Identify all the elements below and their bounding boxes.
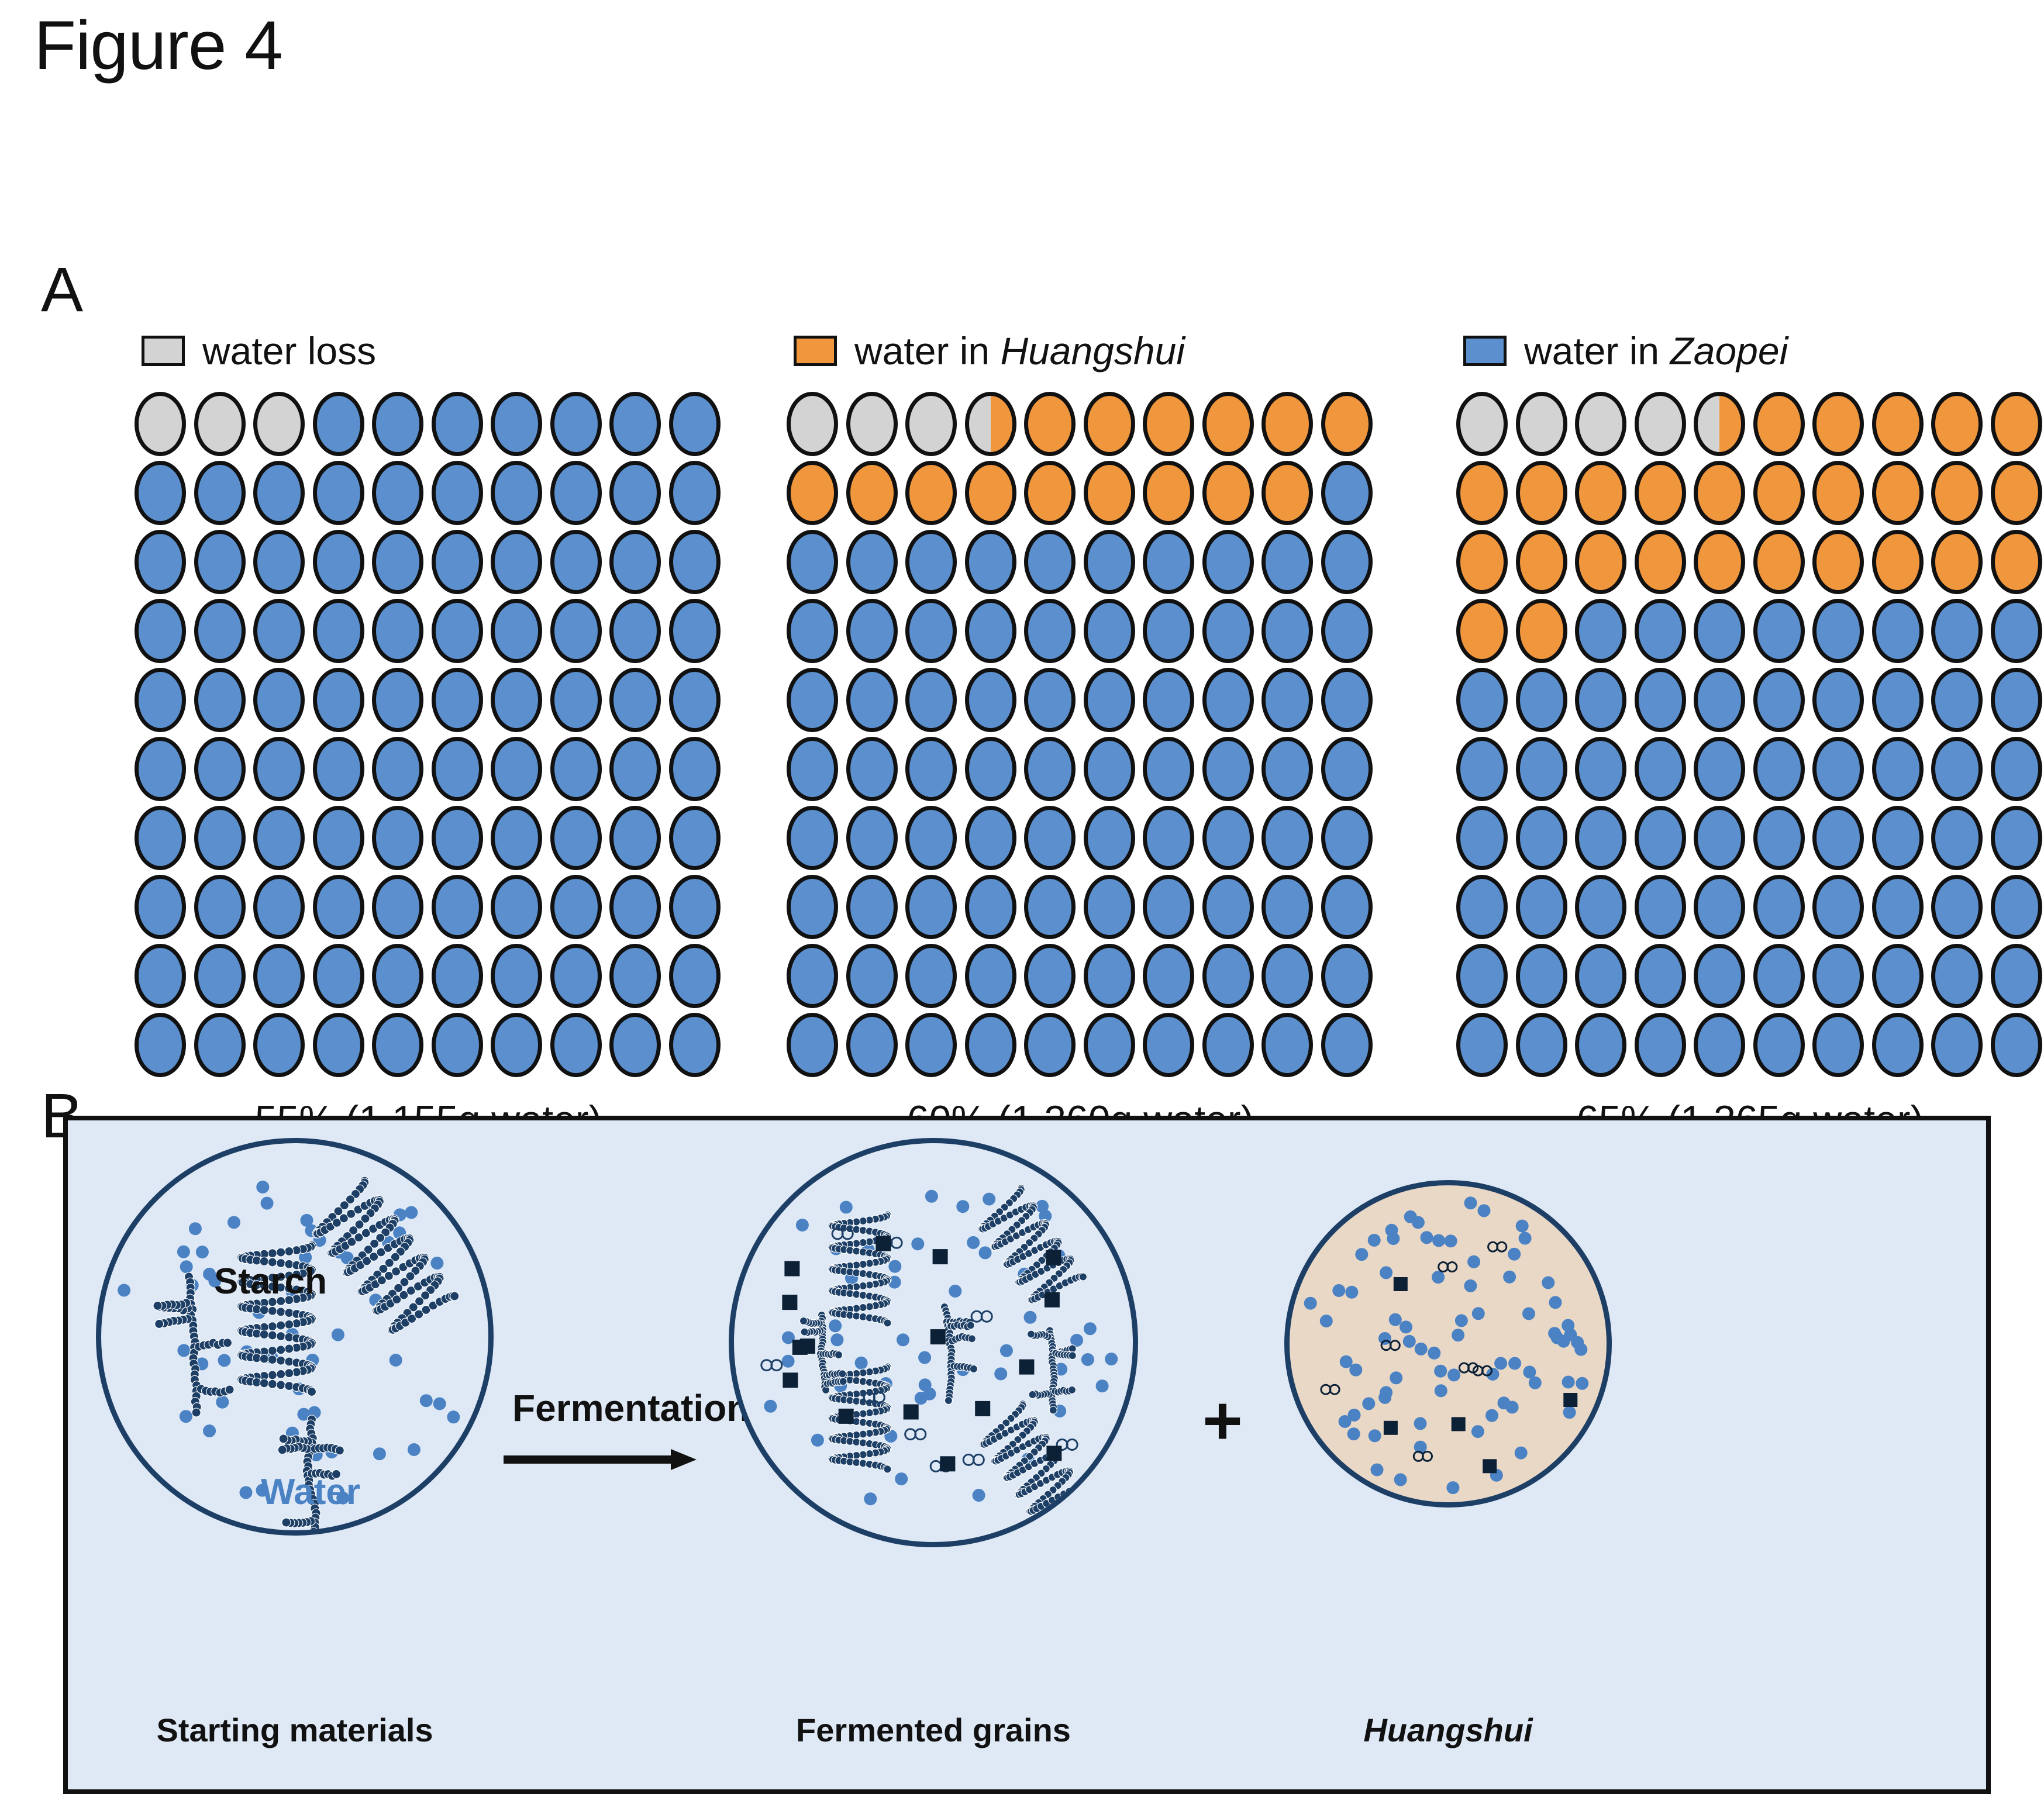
- waffle-dot: [135, 392, 186, 456]
- waffle-dot: [1143, 875, 1194, 939]
- waffle-dot: [905, 737, 957, 801]
- waffle-dot: [1202, 668, 1254, 732]
- waffle-dot: [669, 461, 721, 525]
- waffle-dot: [1143, 461, 1194, 525]
- waffle-dot: [313, 461, 364, 525]
- panel-b: Starch Water Fermentation + Starting mat…: [63, 1116, 1991, 1794]
- waffle-dot: [1635, 599, 1686, 663]
- waffle-dot: [787, 668, 838, 732]
- waffle-dot: [1812, 737, 1864, 801]
- waffle-dot: [253, 392, 305, 456]
- waffle-dot: [846, 668, 898, 732]
- waffle-dot: [1753, 530, 1805, 594]
- waffle-dot: [1575, 806, 1626, 870]
- waffle-dot: [253, 461, 305, 525]
- waffle-dot: [1143, 737, 1194, 801]
- waffle-dot: [669, 875, 721, 939]
- waffle-dot: [905, 599, 957, 663]
- waffle-dot: [491, 737, 542, 801]
- waffle-dot: [491, 806, 542, 870]
- waffle-dot: [846, 461, 898, 525]
- waffle-dot: [432, 875, 483, 939]
- waffle-dot: [1516, 461, 1567, 525]
- waffle-dot: [253, 530, 305, 594]
- waffle-dot: [1516, 530, 1567, 594]
- waffle-dot: [1516, 668, 1567, 732]
- waffle-dot: [787, 806, 838, 870]
- panel-a-label: A: [41, 253, 83, 326]
- waffle-dot: [905, 461, 957, 525]
- waffle-dot: [432, 806, 483, 870]
- waffle-dot: [609, 461, 661, 525]
- waffle-dot: [253, 944, 305, 1008]
- waffle-dot: [846, 806, 898, 870]
- waffle-dot: [1812, 392, 1864, 456]
- waffle-dot: [1635, 875, 1686, 939]
- waffle-dot: [491, 668, 542, 732]
- waffle-dot: [432, 668, 483, 732]
- waffle-dot: [1694, 668, 1745, 732]
- waffle-dot: [609, 392, 661, 456]
- waffle-dot: [432, 737, 483, 801]
- waffle-dot: [1694, 599, 1745, 663]
- waffle-dot: [135, 1013, 186, 1077]
- waffle-dot: [1991, 875, 2042, 939]
- waffle-dot: [313, 737, 364, 801]
- waffle-dot: [1812, 530, 1864, 594]
- waffle-dot: [609, 944, 661, 1008]
- waffle-dot: [253, 599, 305, 663]
- waffle-dot: [609, 1013, 661, 1077]
- waffle-dot: [1516, 599, 1567, 663]
- waffle-dot: [609, 530, 661, 594]
- waffle-dot: [1694, 1013, 1745, 1077]
- caption-huangshui: Huangshui: [1284, 1711, 1612, 1749]
- waffle-dot: [1084, 875, 1135, 939]
- waffle-dot: [1202, 461, 1254, 525]
- waffle-dot-split: [1694, 392, 1745, 456]
- waffle-dot: [1991, 392, 2042, 456]
- waffle-dot: [253, 737, 305, 801]
- waffle-dot: [787, 737, 838, 801]
- waffle-dot: [253, 1013, 305, 1077]
- waffle-dot: [1143, 806, 1194, 870]
- waffle-dot: [491, 530, 542, 594]
- waffle-dot: [1753, 944, 1805, 1008]
- waffle-dot: [135, 530, 186, 594]
- waffle-dot: [787, 1013, 838, 1077]
- waffle-dot: [965, 668, 1016, 732]
- waffle-dot: [965, 806, 1016, 870]
- waffle-dot: [432, 944, 483, 1008]
- waffle-dot: [1321, 1013, 1373, 1077]
- waffle-dot: [491, 461, 542, 525]
- waffle-dot: [550, 599, 602, 663]
- waffle-dot: [1084, 530, 1135, 594]
- waffle-dot: [1456, 1013, 1508, 1077]
- waffle-dot: [1991, 599, 2042, 663]
- waffle-dot: [1635, 392, 1686, 456]
- waffle-dot: [1084, 461, 1135, 525]
- waffle-dot: [1872, 392, 1924, 456]
- waffle-dot: [1931, 737, 1983, 801]
- waffle-dot: [965, 461, 1016, 525]
- waffle-dot: [1991, 737, 2042, 801]
- waffle-dot: [135, 875, 186, 939]
- waffle-dot: [1575, 599, 1626, 663]
- waffle-dot: [1931, 1013, 1983, 1077]
- waffle-dot: [253, 875, 305, 939]
- waffle-dot: [1872, 875, 1924, 939]
- waffle-dot: [1084, 737, 1135, 801]
- waffle-dot: [194, 668, 246, 732]
- waffle-dot: [1575, 944, 1626, 1008]
- waffle-dot: [1024, 530, 1076, 594]
- waffle-dot: [372, 1013, 423, 1077]
- waffle-dot: [313, 944, 364, 1008]
- waffle-dot: [372, 461, 423, 525]
- waffle-dot: [491, 599, 542, 663]
- waffle-dot: [905, 875, 957, 939]
- waffle-dot: [1261, 668, 1313, 732]
- waffle-dot: [432, 1013, 483, 1077]
- waffle-dot: [1084, 944, 1135, 1008]
- waffle-dot: [1872, 806, 1924, 870]
- panel-a: water loss55% (1,155g water)water in Hua…: [0, 327, 2044, 1070]
- waffle-dot: [905, 530, 957, 594]
- waffle-dot: [1024, 668, 1076, 732]
- waffle-chart-2: water in Huangshui60% (1,260g water): [787, 327, 1374, 1143]
- waffle-dot: [1456, 392, 1508, 456]
- waffle-dot: [905, 392, 957, 456]
- waffle-dot: [1575, 392, 1626, 456]
- waffle-dot: [372, 599, 423, 663]
- legend-item-water_loss: water loss: [142, 327, 722, 374]
- waffle-dot: [609, 737, 661, 801]
- waffle-dot: [1991, 1013, 2042, 1077]
- waffle-dot: [787, 530, 838, 594]
- waffle-chart-3: water in Zaopei65% (1,365g water): [1456, 327, 2044, 1143]
- waffle-dot: [669, 599, 721, 663]
- waffle-dot: [846, 737, 898, 801]
- waffle-dot: [1635, 944, 1686, 1008]
- waffle-dot: [1024, 875, 1076, 939]
- waffle-dot: [846, 1013, 898, 1077]
- waffle-dot: [1456, 875, 1508, 939]
- waffle-dot: [905, 1013, 957, 1077]
- waffle-dot: [1991, 530, 2042, 594]
- waffle-dot: [669, 668, 721, 732]
- waffle-dot: [609, 599, 661, 663]
- waffle-dot: [1321, 737, 1373, 801]
- waffle-dot: [669, 806, 721, 870]
- huangshui-graphic: [1290, 1185, 1607, 1502]
- waffle-dot: [1261, 530, 1313, 594]
- waffle-dot: [1143, 944, 1194, 1008]
- legend-swatch-zaopei: [1463, 336, 1507, 366]
- waffle-dot: [905, 944, 957, 1008]
- waffle-dot: [1872, 944, 1924, 1008]
- waffle-dot: [1516, 944, 1567, 1008]
- caption-fermented-grains: Fermented grains: [729, 1711, 1138, 1749]
- waffle-dot: [1261, 599, 1313, 663]
- waffle-dot: [1084, 392, 1135, 456]
- waffle-dot: [1991, 461, 2042, 525]
- waffle-dot: [1575, 875, 1626, 939]
- waffle-dot: [1143, 1013, 1194, 1077]
- waffle-dot: [1321, 461, 1373, 525]
- waffle-dot: [1872, 530, 1924, 594]
- waffle-dot: [432, 530, 483, 594]
- waffle-dot: [1321, 875, 1373, 939]
- waffle-dot: [1931, 875, 1983, 939]
- waffle-dot: [1575, 737, 1626, 801]
- waffle-dot: [1261, 461, 1313, 525]
- waffle-dot: [1991, 944, 2042, 1008]
- waffle-dot: [787, 944, 838, 1008]
- waffle-dot: [1753, 1013, 1805, 1077]
- waffle-dot: [372, 806, 423, 870]
- legend-swatch-huangshui: [794, 336, 837, 366]
- waffle-dot: [1635, 806, 1686, 870]
- waffle-dot: [194, 944, 246, 1008]
- waffle-dot: [965, 944, 1016, 1008]
- waffle-dot: [965, 1013, 1016, 1077]
- waffle-dot: [1931, 944, 1983, 1008]
- waffle-dot: [135, 461, 186, 525]
- waffle-dot: [1812, 599, 1864, 663]
- waffle-dot: [846, 530, 898, 594]
- waffle-dot: [1024, 806, 1076, 870]
- waffle-dot: [550, 461, 602, 525]
- waffle-dot: [846, 875, 898, 939]
- waffle-dot: [1753, 392, 1805, 456]
- waffle-dot: [1753, 737, 1805, 801]
- waffle-dot: [965, 737, 1016, 801]
- waffle-dot: [550, 944, 602, 1008]
- waffle-dot: [1516, 737, 1567, 801]
- waffle-dot: [1261, 944, 1313, 1008]
- waffle-dot: [194, 1013, 246, 1077]
- waffle-dot: [194, 806, 246, 870]
- waffle-dot: [669, 944, 721, 1008]
- waffle-dot: [905, 668, 957, 732]
- waffle-dot: [669, 392, 721, 456]
- huangshui-circle: [1284, 1180, 1612, 1508]
- figure-title: Figure 4: [34, 6, 282, 85]
- waffle-dot: [1812, 875, 1864, 939]
- waffle-dot: [1812, 668, 1864, 732]
- caption-starting-materials: Starting materials: [96, 1711, 494, 1749]
- waffle-dot: [194, 599, 246, 663]
- legend-swatch-water_loss: [142, 336, 185, 366]
- waffle-dot: [1694, 737, 1745, 801]
- waffle-dot: [1812, 806, 1864, 870]
- waffle-dot: [1202, 806, 1254, 870]
- waffle-dot: [1261, 1013, 1313, 1077]
- waffle-dot: [1321, 599, 1373, 663]
- waffle-dot: [1084, 668, 1135, 732]
- waffle-dot: [1202, 392, 1254, 456]
- waffle-dot: [1872, 668, 1924, 732]
- waffle-dot: [1084, 599, 1135, 663]
- waffle-dot: [1575, 461, 1626, 525]
- waffle-grid: [135, 392, 722, 1077]
- waffle-dot: [313, 530, 364, 594]
- waffle-dot: [135, 668, 186, 732]
- waffle-dot: [313, 668, 364, 732]
- waffle-dot: [1456, 530, 1508, 594]
- waffle-dot: [550, 392, 602, 456]
- waffle-dot: [1694, 530, 1745, 594]
- waffle-dot: [135, 599, 186, 663]
- waffle-dot: [313, 875, 364, 939]
- waffle-dot: [1812, 1013, 1864, 1077]
- waffle-dot: [1516, 875, 1567, 939]
- waffle-dot: [372, 944, 423, 1008]
- waffle-dot: [1991, 806, 2042, 870]
- waffle-dot: [194, 875, 246, 939]
- waffle-dot: [313, 599, 364, 663]
- waffle-dot: [846, 392, 898, 456]
- waffle-dot: [1812, 461, 1864, 525]
- waffle-dot: [609, 668, 661, 732]
- waffle-dot: [787, 392, 838, 456]
- waffle-dot: [1753, 875, 1805, 939]
- water-label: Water: [261, 1471, 360, 1513]
- waffle-dot: [1202, 944, 1254, 1008]
- waffle-dot: [313, 392, 364, 456]
- waffle-dot: [1084, 1013, 1135, 1077]
- waffle-dot: [1694, 461, 1745, 525]
- waffle-dot: [609, 806, 661, 870]
- waffle-dot: [1575, 530, 1626, 594]
- waffle-dot: [1753, 668, 1805, 732]
- waffle-dot: [491, 944, 542, 1008]
- waffle-dot: [1024, 737, 1076, 801]
- waffle-dot: [1753, 599, 1805, 663]
- waffle-dot: [253, 668, 305, 732]
- waffle-dot: [1321, 668, 1373, 732]
- waffle-dot: [1321, 944, 1373, 1008]
- waffle-dot: [1202, 1013, 1254, 1077]
- waffle-dot: [491, 875, 542, 939]
- waffle-dot: [372, 530, 423, 594]
- waffle-dot: [313, 806, 364, 870]
- waffle-dot: [550, 806, 602, 870]
- waffle-dot: [1872, 461, 1924, 525]
- waffle-dot: [1202, 737, 1254, 801]
- waffle-dot: [1143, 530, 1194, 594]
- waffle-dot: [1694, 806, 1745, 870]
- waffle-dot: [1872, 599, 1924, 663]
- waffle-dot: [1143, 392, 1194, 456]
- waffle-dot: [1321, 806, 1373, 870]
- waffle-dot: [1261, 806, 1313, 870]
- plus-sign: +: [1202, 1386, 1243, 1455]
- waffle-dot: [1635, 737, 1686, 801]
- waffle-grid: [1456, 392, 2044, 1077]
- waffle-dot: [1694, 875, 1745, 939]
- waffle-dot: [135, 944, 186, 1008]
- waffle-dot: [965, 530, 1016, 594]
- waffle-dot: [1456, 668, 1508, 732]
- waffle-dot: [1024, 1013, 1076, 1077]
- legend-item-huangshui: water in Huangshui: [794, 327, 1374, 374]
- fermented-grains-circle: [729, 1138, 1138, 1547]
- waffle-dot: [1931, 668, 1983, 732]
- waffle-dot: [194, 737, 246, 801]
- fermentation-arrow-icon: [504, 1448, 697, 1471]
- waffle-dot: [194, 461, 246, 525]
- waffle-dot: [609, 875, 661, 939]
- waffle-dot: [135, 737, 186, 801]
- waffle-dot: [550, 875, 602, 939]
- waffle-dot: [1456, 944, 1508, 1008]
- waffle-dot: [1321, 530, 1373, 594]
- waffle-dot: [1516, 392, 1567, 456]
- waffle-dot: [1143, 599, 1194, 663]
- waffle-dot: [669, 737, 721, 801]
- waffle-dot: [1143, 668, 1194, 732]
- waffle-dot: [846, 599, 898, 663]
- waffle-dot: [372, 737, 423, 801]
- waffle-dot: [135, 806, 186, 870]
- waffle-dot: [1261, 392, 1313, 456]
- waffle-dot: [1261, 737, 1313, 801]
- waffle-dot: [1991, 668, 2042, 732]
- waffle-dot: [1635, 668, 1686, 732]
- waffle-dot: [1456, 806, 1508, 870]
- legend-label-zaopei: water in Zaopei: [1524, 329, 1788, 373]
- waffle-dot: [1456, 599, 1508, 663]
- waffle-dot: [1202, 530, 1254, 594]
- waffle-dot: [1321, 392, 1373, 456]
- waffle-dot: [1753, 461, 1805, 525]
- waffle-dot: [1931, 599, 1983, 663]
- waffle-dot: [491, 392, 542, 456]
- fermented-grain-graphic: [734, 1143, 1133, 1542]
- waffle-dot: [372, 668, 423, 732]
- starch-label: Starch: [214, 1261, 327, 1302]
- waffle-dot: [846, 944, 898, 1008]
- waffle-dot: [194, 392, 246, 456]
- waffle-dot: [432, 461, 483, 525]
- waffle-dot: [1635, 1013, 1686, 1077]
- waffle-dot: [1084, 806, 1135, 870]
- waffle-dot: [1575, 668, 1626, 732]
- waffle-dot: [1024, 461, 1076, 525]
- waffle-dot: [1202, 875, 1254, 939]
- waffle-dot: [1456, 737, 1508, 801]
- waffle-dot: [550, 668, 602, 732]
- waffle-dot: [550, 1013, 602, 1077]
- waffle-dot: [965, 875, 1016, 939]
- fermentation-label: Fermentation: [512, 1386, 749, 1430]
- waffle-dot: [669, 530, 721, 594]
- waffle-dot: [194, 530, 246, 594]
- waffle-chart-1: water loss55% (1,155g water): [135, 327, 722, 1143]
- waffle-dot: [1931, 461, 1983, 525]
- waffle-dot: [1694, 944, 1745, 1008]
- waffle-dot: [1753, 806, 1805, 870]
- waffle-dot: [1931, 392, 1983, 456]
- waffle-dot: [491, 1013, 542, 1077]
- waffle-dot: [1261, 875, 1313, 939]
- waffle-dot: [905, 806, 957, 870]
- waffle-dot: [1575, 1013, 1626, 1077]
- waffle-dot: [787, 875, 838, 939]
